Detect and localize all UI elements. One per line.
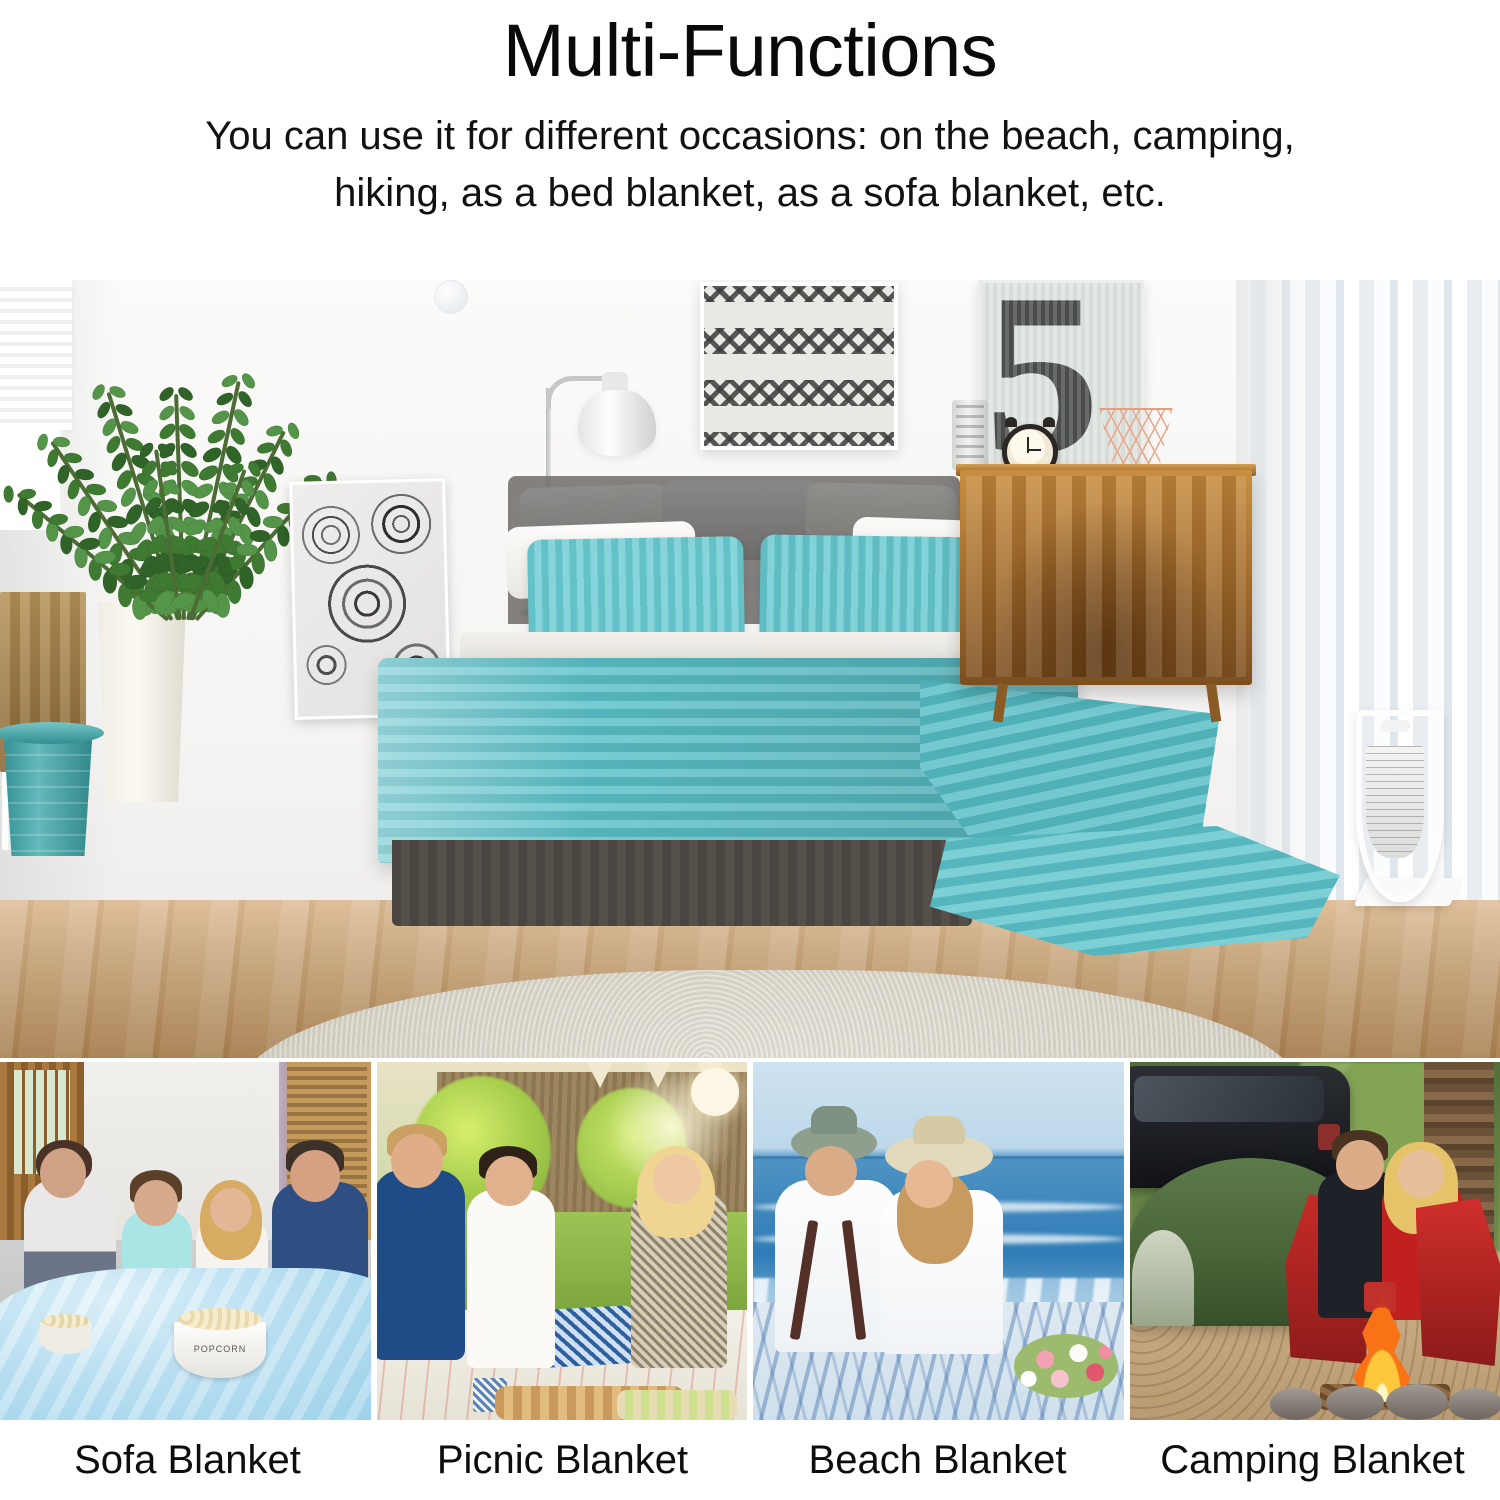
magazine-rack xyxy=(1356,710,1460,910)
ceramic-vase xyxy=(952,400,988,470)
teal-quilted-pillow xyxy=(759,534,991,647)
popcorn-bowl-label: POPCORN xyxy=(174,1344,266,1354)
fire-ring-stone xyxy=(1448,1388,1500,1420)
bunting-flag xyxy=(645,1062,671,1088)
product-feature-image: Multi-Functions You can use it for diffe… xyxy=(0,0,1500,1500)
teal-bucket xyxy=(0,738,96,856)
wood-sideboard xyxy=(960,470,1252,685)
fire-ring-stone xyxy=(1386,1384,1448,1420)
page-subtitle: You can use it for different occasions: … xyxy=(0,88,1500,222)
sun-hat xyxy=(885,1134,993,1178)
magazine-rack-handle xyxy=(1380,720,1410,732)
flower-bouquet xyxy=(1014,1334,1118,1398)
thumbnail-beach-blanket[interactable] xyxy=(753,1062,1124,1420)
popcorn-bowl: POPCORN xyxy=(174,1322,266,1378)
paper-lantern xyxy=(691,1068,739,1116)
person-girl xyxy=(631,1188,727,1368)
caption-beach-blanket: Beach Blanket xyxy=(750,1420,1125,1500)
header: Multi-Functions You can use it for diffe… xyxy=(0,0,1500,280)
chevron-artwork xyxy=(700,282,898,450)
caption-camping-blanket: Camping Blanket xyxy=(1125,1420,1500,1500)
teal-bucket-lid xyxy=(0,722,104,744)
floor-lamp-shade xyxy=(578,390,656,456)
planter-pot xyxy=(92,602,192,802)
person-woman xyxy=(881,1190,1003,1354)
small-popcorn-bowl xyxy=(40,1322,92,1354)
caption-row: Sofa Blanket Picnic Blanket Beach Blanke… xyxy=(0,1420,1500,1500)
popcorn xyxy=(178,1308,262,1330)
person-father xyxy=(377,1170,465,1360)
bunting-flag xyxy=(587,1062,613,1088)
subtitle-line-1: You can use it for different occasions: … xyxy=(0,108,1500,165)
picnic-fruit-plate xyxy=(617,1390,737,1420)
hero-bedroom-photo: 5 xyxy=(0,280,1500,1058)
pendant-bulb xyxy=(434,280,468,314)
fire-ring-stone xyxy=(1270,1388,1322,1420)
person-man xyxy=(775,1180,897,1352)
thumbnail-sofa-blanket[interactable]: POPCORN xyxy=(0,1062,371,1420)
thumbnail-camping-blanket[interactable] xyxy=(1130,1062,1500,1420)
fedora-hat xyxy=(791,1124,877,1162)
person-boy xyxy=(467,1190,555,1368)
bed-base xyxy=(392,840,972,926)
fire-ring-stone xyxy=(1326,1386,1384,1420)
caption-sofa-blanket: Sofa Blanket xyxy=(0,1420,375,1500)
caption-picnic-blanket: Picnic Blanket xyxy=(375,1420,750,1500)
subtitle-line-2: hiking, as a bed blanket, as a sofa blan… xyxy=(0,165,1500,222)
magazine-rack-front xyxy=(1356,710,1444,902)
use-case-thumbnail-row: POPCORN xyxy=(0,1062,1500,1420)
page-title: Multi-Functions xyxy=(0,0,1500,88)
thumbnail-picnic-blanket[interactable] xyxy=(377,1062,748,1420)
